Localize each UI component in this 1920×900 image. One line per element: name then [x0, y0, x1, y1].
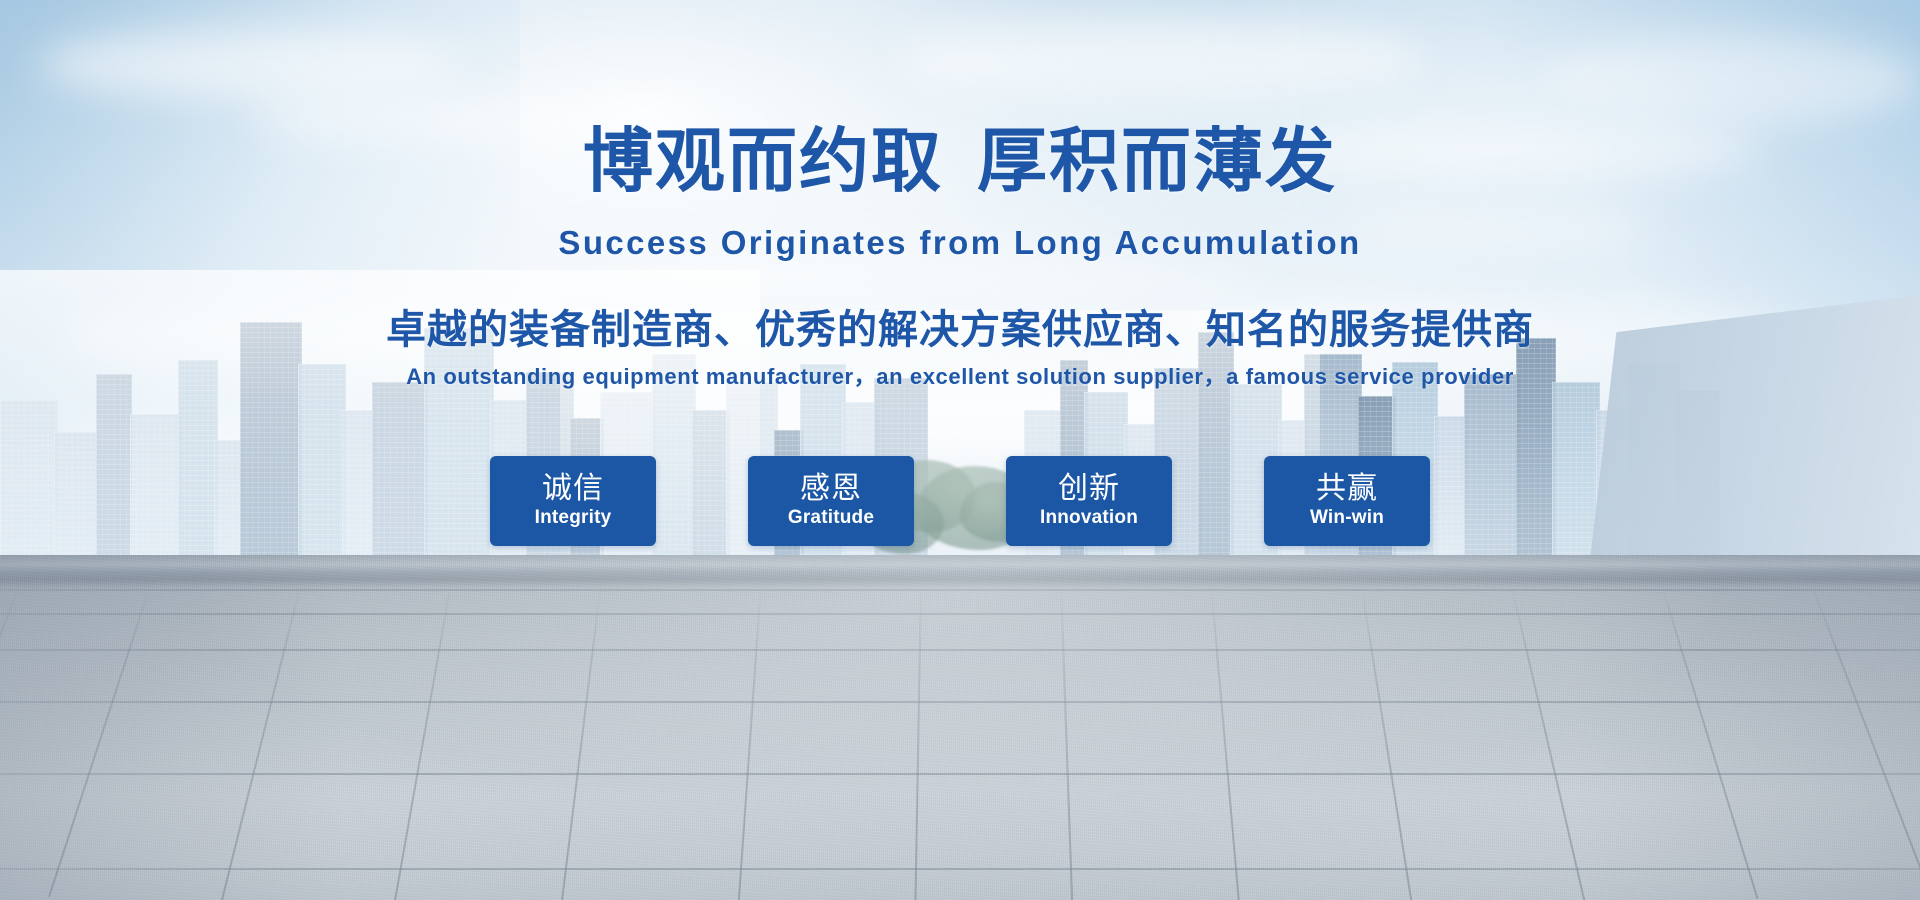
- value-card-label-cn: 共赢: [1316, 472, 1378, 506]
- subtitle-english: An outstanding equipment manufacturer，an…: [0, 366, 1920, 388]
- value-card-integrity[interactable]: 诚信 Integrity: [490, 456, 656, 546]
- hero-banner: 博观而约取厚积而薄发 Success Originates from Long …: [0, 0, 1920, 900]
- value-card-gratitude[interactable]: 感恩 Gratitude: [748, 456, 914, 546]
- value-card-innovation[interactable]: 创新 Innovation: [1006, 456, 1172, 546]
- value-card-list: 诚信 Integrity 感恩 Gratitude 创新 Innovation …: [0, 456, 1920, 546]
- value-card-label-cn: 创新: [1058, 472, 1120, 506]
- value-card-label-en: Gratitude: [788, 507, 874, 530]
- headline-english: Success Originates from Long Accumulatio…: [0, 226, 1920, 259]
- page-title: 博观而约取厚积而薄发: [0, 126, 1920, 196]
- headline-cn-part2: 厚积而薄发: [977, 122, 1337, 200]
- headline-cn-part1: 博观而约取: [583, 122, 943, 200]
- subtitle-chinese: 卓越的装备制造商、优秀的解决方案供应商、知名的服务提供商: [0, 310, 1920, 350]
- value-card-winwin[interactable]: 共赢 Win-win: [1264, 456, 1430, 546]
- value-card-label-cn: 诚信: [542, 472, 604, 506]
- value-card-label-en: Integrity: [535, 507, 612, 530]
- banner-content: 博观而约取厚积而薄发 Success Originates from Long …: [0, 0, 1920, 900]
- value-card-label-en: Win-win: [1310, 507, 1384, 530]
- value-card-label-en: Innovation: [1040, 507, 1138, 530]
- value-card-label-cn: 感恩: [800, 472, 862, 506]
